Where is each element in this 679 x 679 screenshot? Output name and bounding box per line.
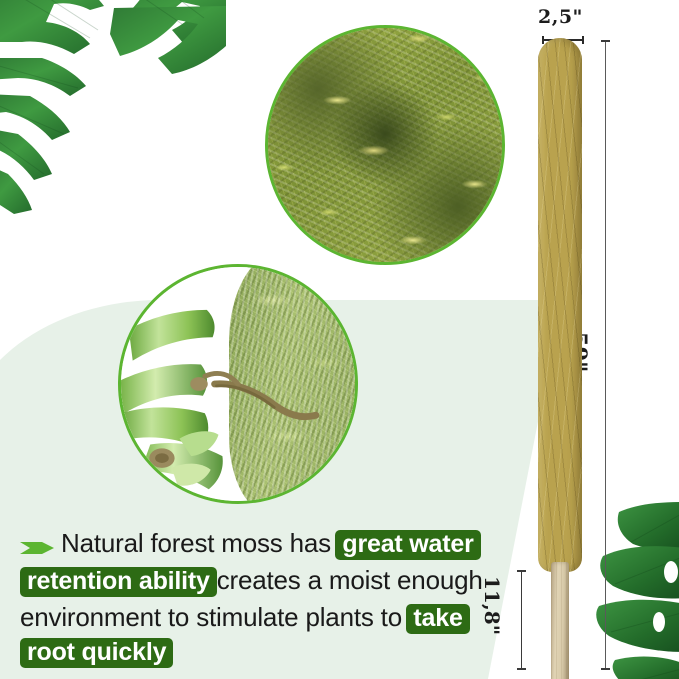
dimension-label-width: 2,5" — [538, 6, 583, 28]
copy-text-2: creates a moist enough — [217, 565, 483, 595]
product-infographic: 2,5" 59" 11,8" Natural forest moss has g… — [0, 0, 679, 679]
moss-pole-product — [538, 38, 582, 670]
photo-dry-moss-image — [268, 28, 502, 262]
photo-moss-pole-plant-image — [121, 267, 355, 501]
copy-highlight-4: root quickly — [20, 638, 173, 668]
monstera-leaf-top-left — [0, 0, 226, 214]
copy-text-1: Natural forest moss has — [61, 528, 331, 558]
marketing-copy: Natural forest moss has great water rete… — [20, 527, 520, 672]
pole-moss-section — [538, 38, 582, 572]
monstera-leaf-bottom-right — [575, 502, 679, 679]
copy-line-3: environment to stimulate plants to take — [20, 601, 520, 638]
copy-highlight-2: retention ability — [20, 567, 217, 597]
copy-line-1: Natural forest moss has great water — [20, 527, 520, 564]
green-arrow-bullet-icon — [20, 539, 54, 557]
copy-highlight-1: great water — [335, 530, 480, 560]
copy-text-3: environment to stimulate plants to — [20, 602, 402, 632]
photo-dry-moss — [265, 25, 505, 265]
pole-wooden-stake — [551, 562, 569, 679]
copy-highlight-3: take — [406, 604, 469, 634]
copy-line-4: root quickly — [20, 638, 520, 672]
copy-line-2: retention abilitycreates a moist enough — [20, 564, 520, 601]
photo-moss-pole-plant — [118, 264, 358, 504]
dimension-caliper-height — [601, 40, 610, 670]
